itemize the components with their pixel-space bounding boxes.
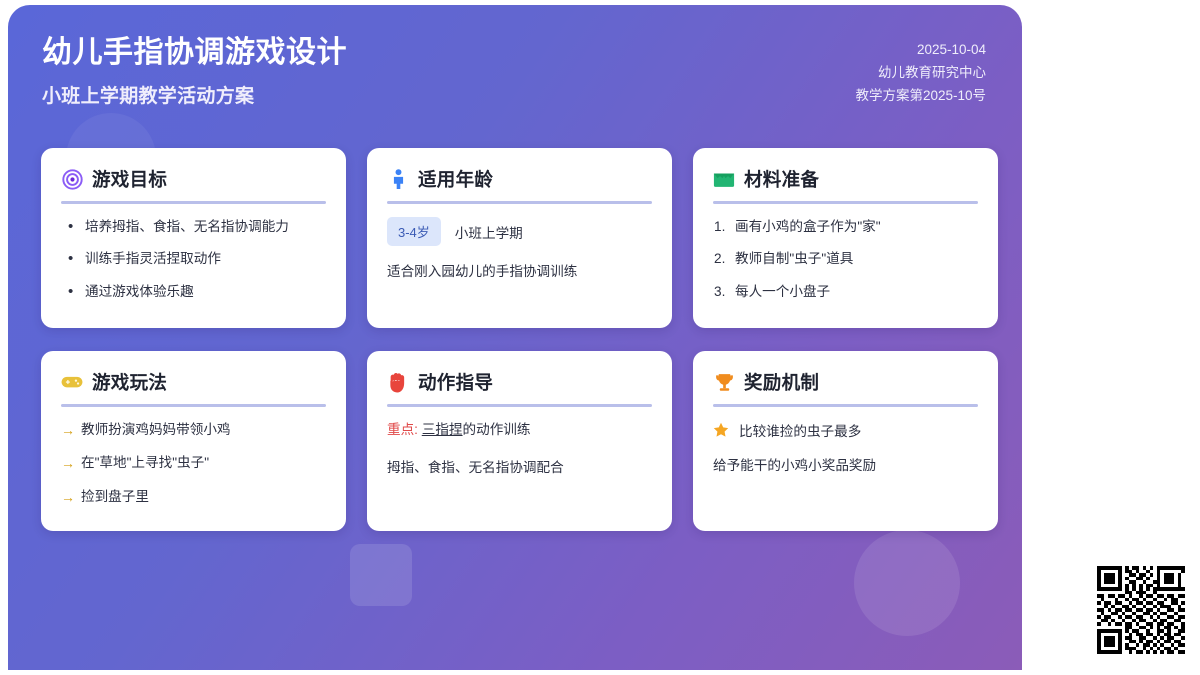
meta-date: 2025-10-04 xyxy=(855,38,986,61)
key-point-label: 重点: xyxy=(387,422,418,437)
key-point-rest: 的动作训练 xyxy=(463,422,531,437)
card-divider xyxy=(61,201,326,204)
guidance-note: 拇指、食指、无名指协调配合 xyxy=(387,458,652,478)
card-divider xyxy=(61,404,326,407)
list-item: 在"草地"上寻找"虫子" xyxy=(61,453,326,473)
header: 幼儿手指协调游戏设计 小班上学期教学活动方案 2025-10-04 幼儿教育研究… xyxy=(8,5,1022,133)
meta-organization: 幼儿教育研究中心 xyxy=(855,61,986,84)
card-header: 奖励机制 xyxy=(713,369,978,404)
card-title: 奖励机制 xyxy=(744,369,819,395)
header-meta: 2025-10-04 幼儿教育研究中心 教学方案第2025-10号 xyxy=(855,27,986,108)
trophy-icon xyxy=(713,371,735,393)
card-gameplay[interactable]: 游戏玩法 教师扮演鸡妈妈带领小鸡 在"草地"上寻找"虫子" 捡到盘子里 xyxy=(41,351,346,531)
card-divider xyxy=(387,404,652,407)
card-guidance[interactable]: 动作指导 重点: 三指捏的动作训练 拇指、食指、无名指协调配合 xyxy=(367,351,672,531)
slide-root: 幼儿手指协调游戏设计 小班上学期教学活动方案 2025-10-04 幼儿教育研究… xyxy=(0,0,1200,675)
card-age[interactable]: 适用年龄 3-4岁 小班上学期 适合刚入园幼儿的手指协调训练 xyxy=(367,148,672,328)
materials-list: 画有小鸡的盒子作为"家" 教师自制"虫子"道具 每人一个小盘子 xyxy=(713,217,978,302)
list-item: 捡到盘子里 xyxy=(61,487,326,507)
age-term: 小班上学期 xyxy=(455,222,523,242)
age-badge: 3-4岁 xyxy=(387,217,441,246)
gameplay-list: 教师扮演鸡妈妈带领小鸡 在"草地"上寻找"虫子" 捡到盘子里 xyxy=(61,420,326,507)
card-divider xyxy=(387,201,652,204)
list-item: 教师自制"虫子"道具 xyxy=(713,249,978,269)
card-title: 材料准备 xyxy=(744,166,819,192)
card-header: 动作指导 xyxy=(387,369,652,404)
card-header: 游戏目标 xyxy=(61,166,326,201)
target-icon xyxy=(61,168,83,190)
card-title: 动作指导 xyxy=(418,369,493,395)
key-point-emphasis: 三指捏 xyxy=(422,422,463,437)
qr-code-matrix xyxy=(1097,566,1185,654)
child-icon xyxy=(387,168,409,190)
game-controller-icon xyxy=(61,371,83,393)
card-header: 材料准备 xyxy=(713,166,978,201)
card-title: 游戏玩法 xyxy=(92,369,167,395)
decorative-circle-bottom xyxy=(854,530,960,636)
card-title: 游戏目标 xyxy=(92,166,167,192)
meta-document-number: 教学方案第2025-10号 xyxy=(855,84,986,107)
list-item: 通过游戏体验乐趣 xyxy=(61,282,326,302)
list-item: 教师扮演鸡妈妈带领小鸡 xyxy=(61,420,326,440)
card-divider xyxy=(713,404,978,407)
reward-highlight: 比较谁捡的虫子最多 xyxy=(739,420,861,440)
age-row: 3-4岁 小班上学期 xyxy=(387,217,652,246)
guidance-key-point: 重点: 三指捏的动作训练 xyxy=(387,420,652,440)
list-item: 每人一个小盘子 xyxy=(713,282,978,302)
list-item: 培养拇指、食指、无名指协调能力 xyxy=(61,217,326,237)
card-grid: 游戏目标 培养拇指、食指、无名指协调能力 训练手指灵活捏取动作 通过游戏体验乐趣 xyxy=(41,148,999,531)
card-goals[interactable]: 游戏目标 培养拇指、食指、无名指协调能力 训练手指灵活捏取动作 通过游戏体验乐趣 xyxy=(41,148,346,328)
card-header: 适用年龄 xyxy=(387,166,652,201)
main-panel: 幼儿手指协调游戏设计 小班上学期教学活动方案 2025-10-04 幼儿教育研究… xyxy=(8,5,1022,670)
star-icon xyxy=(713,422,729,438)
list-item: 训练手指灵活捏取动作 xyxy=(61,249,326,269)
reward-note: 给予能干的小鸡小奖品奖励 xyxy=(713,456,978,476)
raised-hand-icon xyxy=(387,371,409,393)
card-materials[interactable]: 材料准备 画有小鸡的盒子作为"家" 教师自制"虫子"道具 每人一个小盘子 xyxy=(693,148,998,328)
card-reward[interactable]: 奖励机制 比较谁捡的虫子最多 给予能干的小鸡小奖品奖励 xyxy=(693,351,998,531)
page-title: 幼儿手指协调游戏设计 xyxy=(42,33,347,72)
card-header: 游戏玩法 xyxy=(61,369,326,404)
goals-list: 培养拇指、食指、无名指协调能力 训练手指灵活捏取动作 通过游戏体验乐趣 xyxy=(61,217,326,302)
reward-highlight-row: 比较谁捡的虫子最多 xyxy=(713,420,978,440)
qr-code xyxy=(1097,566,1185,654)
age-note: 适合刚入园幼儿的手指协调训练 xyxy=(387,262,652,282)
header-titles: 幼儿手指协调游戏设计 小班上学期教学活动方案 xyxy=(36,27,347,108)
list-item: 画有小鸡的盒子作为"家" xyxy=(713,217,978,237)
open-box-icon xyxy=(713,168,735,190)
card-title: 适用年龄 xyxy=(418,166,493,192)
page-subtitle: 小班上学期教学活动方案 xyxy=(42,81,347,108)
card-divider xyxy=(713,201,978,204)
decorative-square xyxy=(350,544,412,606)
